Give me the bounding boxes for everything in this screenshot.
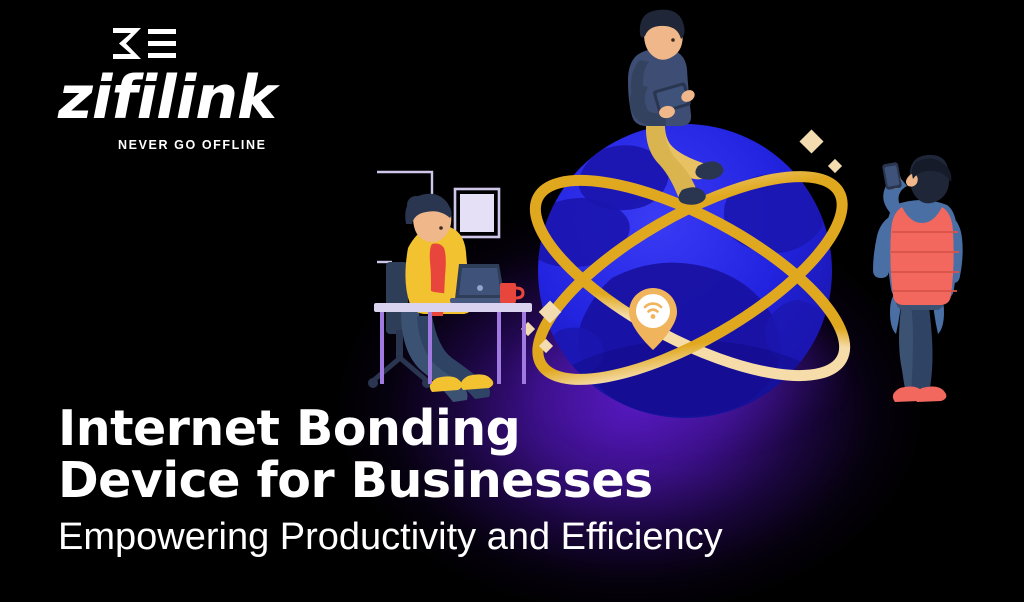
sigma-bars-logo-icon	[110, 26, 180, 62]
woman-head	[405, 194, 451, 242]
headline-line-1: Internet Bonding	[58, 403, 938, 455]
headline-line-2: Device for Businesses	[58, 455, 938, 507]
person-holding-phone	[873, 155, 963, 402]
brand-name: zifilink	[58, 68, 276, 128]
coffee-mug	[500, 283, 523, 303]
woman-legs	[401, 312, 493, 402]
laptop	[450, 264, 508, 303]
subheadline: Empowering Productivity and Efficiency	[58, 516, 723, 559]
woman-at-desk-with-laptop	[368, 194, 532, 402]
headline-block: Internet Bonding Device for Businesses	[58, 403, 938, 507]
brand-tagline: NEVER GO OFFLINE	[118, 138, 267, 152]
banner-canvas: zifilink NEVER GO OFFLINE Internet Bondi…	[0, 0, 1024, 602]
brand-logo[interactable]: zifilink NEVER GO OFFLINE	[58, 26, 288, 151]
